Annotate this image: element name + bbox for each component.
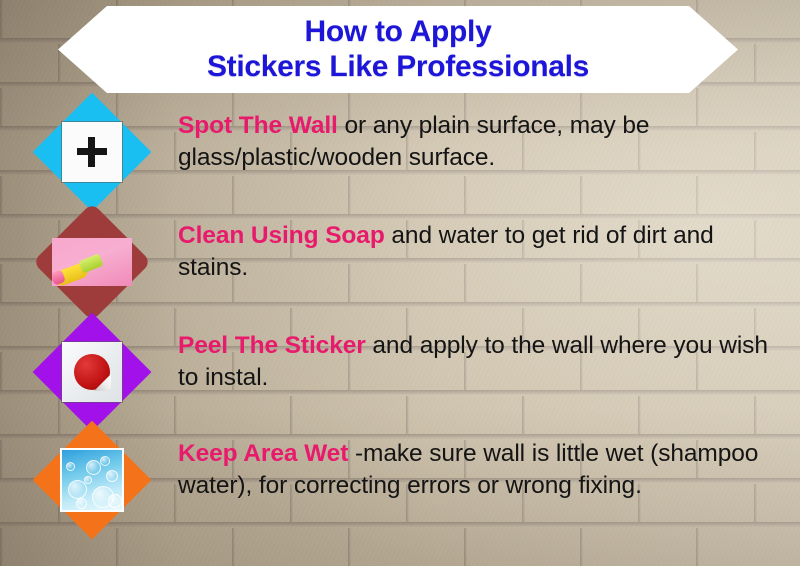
step-1-icon-cell [0, 104, 178, 214]
step-4-icon-cell [0, 432, 178, 550]
step-1-text-cell: Spot The Wall or any plain surface, may … [178, 104, 800, 174]
step-3-text: Peel The Sticker and apply to the wall w… [178, 330, 786, 394]
step-item: Clean Using Soap and water to get rid of… [0, 214, 800, 324]
title-line-2: Stickers Like Professionals [207, 50, 589, 84]
sticker-graphic [74, 354, 110, 390]
step-4-lead: Keep Area Wet [178, 440, 348, 467]
cleaning-glove-icon [52, 238, 132, 286]
step-3-lead: Peel The Sticker [178, 332, 366, 359]
plus-glyph [77, 137, 107, 167]
water-bubbles-icon [62, 450, 122, 510]
step-4-text: Keep Area Wet -make sure wall is little … [178, 438, 786, 502]
infographic-poster: How to Apply Stickers Like Professionals… [0, 0, 800, 566]
step-4-text-cell: Keep Area Wet -make sure wall is little … [178, 432, 800, 502]
step-2-text: Clean Using Soap and water to get rid of… [178, 220, 786, 284]
bubble-graphics [62, 450, 122, 510]
title-line-1: How to Apply [305, 15, 492, 49]
step-1-lead: Spot The Wall [178, 112, 338, 139]
step-item: Keep Area Wet -make sure wall is little … [0, 432, 800, 550]
plus-sign-icon [62, 122, 122, 182]
step-item: Spot The Wall or any plain surface, may … [0, 104, 800, 214]
steps-list: Spot The Wall or any plain surface, may … [0, 104, 800, 550]
sponge-shape [78, 253, 103, 273]
step-2-lead: Clean Using Soap [178, 222, 385, 249]
step-1-text: Spot The Wall or any plain surface, may … [178, 110, 786, 174]
step-3-icon-cell [0, 324, 178, 432]
glove-hand-graphic [54, 250, 108, 284]
peeling-sticker-icon [62, 342, 122, 402]
step-2-icon-cell [0, 214, 178, 324]
title-banner: How to Apply Stickers Like Professionals [58, 6, 738, 93]
step-item: Peel The Sticker and apply to the wall w… [0, 324, 800, 432]
step-3-text-cell: Peel The Sticker and apply to the wall w… [178, 324, 800, 394]
step-2-text-cell: Clean Using Soap and water to get rid of… [178, 214, 800, 284]
